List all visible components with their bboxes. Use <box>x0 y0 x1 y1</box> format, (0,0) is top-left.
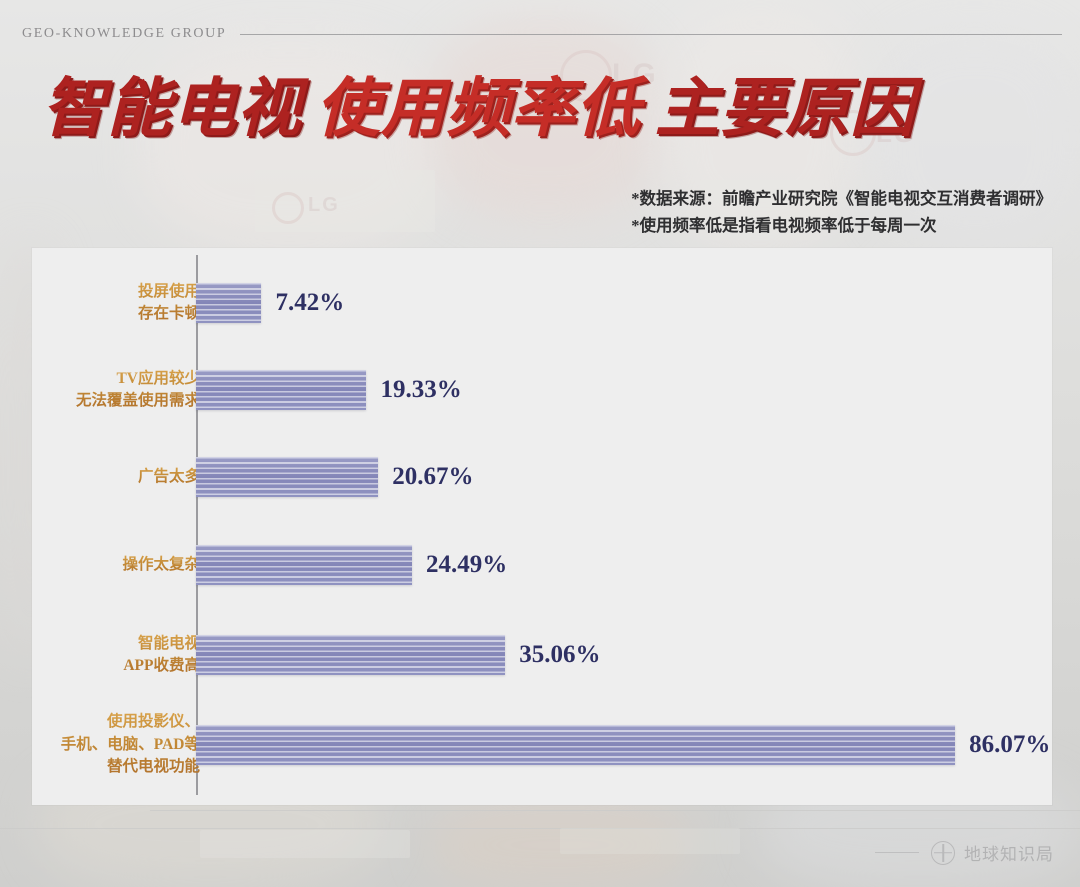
bar-value-label: 7.42% <box>275 289 344 317</box>
chart-row: 使用投影仪、手机、电脑、PAD等替代电视功能86.07% <box>32 717 1052 773</box>
chart-row: 智能电视APP收费高35.06% <box>32 627 1052 683</box>
brand-divider <box>240 34 1062 35</box>
background-edge-line <box>0 828 1080 829</box>
lg-logo-ring-icon <box>272 192 304 224</box>
source-note-line-1: *数据来源：前瞻产业研究院《智能电视交互消费者调研》 <box>631 186 1052 213</box>
bar-chart: 投屏使用存在卡顿7.42%TV应用较少无法覆盖使用需求19.33%广告太多20.… <box>32 248 1052 805</box>
bar <box>196 635 505 675</box>
footer-divider <box>875 852 919 853</box>
bar <box>196 370 366 410</box>
bar-category-label: 操作太复杂 <box>0 554 200 576</box>
chart-row: TV应用较少无法覆盖使用需求19.33% <box>32 362 1052 418</box>
bar-container: 20.67% <box>196 449 474 505</box>
bar-container: 19.33% <box>196 362 462 418</box>
footer-logo-text: 地球知识局 <box>964 840 1054 865</box>
background-sign <box>560 828 740 854</box>
bar-category-label: 广告太多 <box>0 466 200 488</box>
brand-row: GEO-KNOWLEDGE GROUP <box>22 26 1062 42</box>
footer-logo: 地球知识局 <box>875 840 1054 865</box>
bar-container: 35.06% <box>196 627 600 683</box>
bar <box>196 725 955 765</box>
page-title-part-3: 主要原因 <box>655 72 915 144</box>
bar-value-label: 24.49% <box>426 551 507 579</box>
bar-category-label: 投屏使用存在卡顿 <box>0 281 200 326</box>
bar-container: 24.49% <box>196 537 507 593</box>
bar-value-label: 19.33% <box>380 376 461 404</box>
bar <box>196 457 378 497</box>
chart-row: 广告太多20.67% <box>32 449 1052 505</box>
bar-container: 86.07% <box>196 717 1050 773</box>
background-edge-line <box>150 810 1080 811</box>
page-title: 智能电视使用频率低主要原因 <box>42 76 915 140</box>
bar-category-label: 智能电视APP收费高 <box>0 633 200 678</box>
lg-wordmark: LG <box>308 194 340 217</box>
bar-value-label: 20.67% <box>392 463 473 491</box>
bar-category-label: 使用投影仪、手机、电脑、PAD等替代电视功能 <box>0 711 200 778</box>
brand-name: GEO-KNOWLEDGE GROUP <box>22 26 226 42</box>
chart-row: 操作太复杂24.49% <box>32 537 1052 593</box>
bar <box>196 283 261 323</box>
page-title-part-1: 智能电视 <box>42 72 302 144</box>
bar-value-label: 35.06% <box>519 641 600 669</box>
bar-category-label: TV应用较少无法覆盖使用需求 <box>0 368 200 413</box>
bar <box>196 545 412 585</box>
globe-icon <box>931 841 955 865</box>
source-notes: *数据来源：前瞻产业研究院《智能电视交互消费者调研》 *使用频率低是指看电视频率… <box>631 186 1052 239</box>
background-sign <box>200 830 410 858</box>
page-title-part-2: 使用频率低 <box>316 72 641 144</box>
bar-container: 7.42% <box>196 275 344 331</box>
chart-row: 投屏使用存在卡顿7.42% <box>32 275 1052 331</box>
bar-value-label: 86.07% <box>969 731 1050 759</box>
source-note-line-2: *使用频率低是指看电视频率低于每周一次 <box>631 213 1052 240</box>
